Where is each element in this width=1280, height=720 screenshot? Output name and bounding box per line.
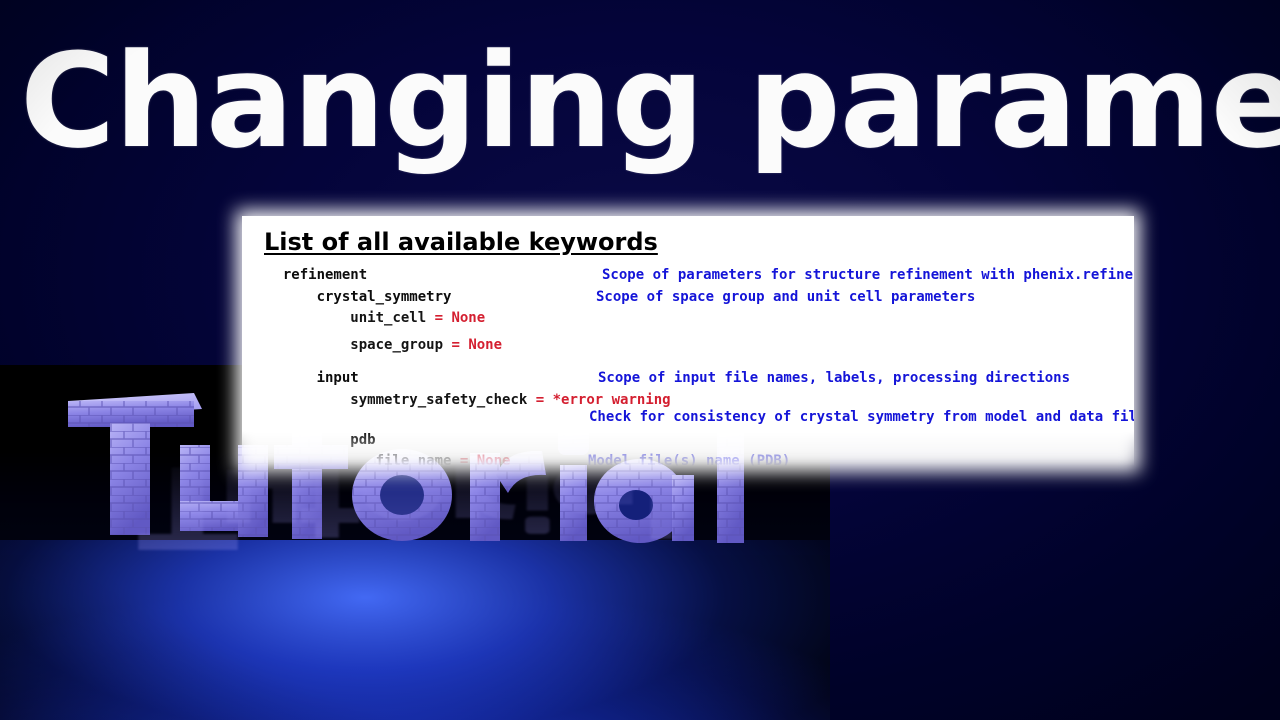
keyword-row: crystal_symmetryScope of space group and… bbox=[242, 286, 1134, 308]
keyword-description: Scope of parameters for structure refine… bbox=[602, 264, 1133, 286]
slide-root: Changing parameters bbox=[0, 0, 1280, 720]
keyword-name: input bbox=[317, 367, 359, 389]
keyword-label: pdb bbox=[350, 432, 375, 448]
keywords-panel: List of all available keywords refinemen… bbox=[236, 210, 1140, 472]
keyword-description: Model file(s) name (PDB) bbox=[588, 450, 790, 466]
keyword-name: crystal_symmetry bbox=[317, 286, 452, 308]
keyword-label: crystal_symmetry bbox=[317, 289, 452, 305]
keyword-row: refinementScope of parameters for struct… bbox=[242, 264, 1134, 286]
keyword-equals: = bbox=[451, 453, 476, 466]
keyword-name: refinement bbox=[283, 264, 367, 286]
keyword-description: Scope of input file names, labels, proce… bbox=[598, 367, 1070, 389]
keyword-value: None bbox=[451, 310, 485, 326]
keyword-label: unit_cell bbox=[350, 310, 426, 326]
keyword-label: refinement bbox=[283, 267, 367, 283]
keyword-equals: = bbox=[443, 337, 468, 353]
keyword-name: unit_cell = None bbox=[350, 307, 485, 329]
keyword-label: input bbox=[317, 370, 359, 386]
keyword-row: Check for consistency of crystal symmetr… bbox=[242, 406, 1134, 428]
keyword-row: pdb bbox=[242, 429, 1134, 451]
keyword-label: file_name bbox=[376, 453, 452, 466]
keyword-row: file_name = NoneModel file(s) name (PDB) bbox=[242, 450, 1134, 466]
keyword-name: pdb bbox=[350, 429, 375, 451]
keyword-equals: = bbox=[426, 310, 451, 326]
keyword-name: file_name = None bbox=[376, 450, 511, 466]
keyword-label: space_group bbox=[350, 337, 443, 353]
keyword-row: inputScope of input file names, labels, … bbox=[242, 367, 1134, 389]
panel-surface: List of all available keywords refinemen… bbox=[242, 216, 1134, 466]
keyword-row: unit_cell = None bbox=[242, 307, 1134, 329]
panel-heading: List of all available keywords bbox=[264, 228, 658, 256]
keyword-description: Check for consistency of crystal symmetr… bbox=[589, 406, 1134, 428]
keyword-name: space_group = None bbox=[350, 334, 502, 356]
keyword-value: None bbox=[477, 453, 511, 466]
page-title: Changing parameters bbox=[20, 26, 1270, 176]
keyword-row: space_group = None bbox=[242, 334, 1134, 356]
keyword-description: Scope of space group and unit cell param… bbox=[596, 286, 975, 308]
keyword-value: None bbox=[468, 337, 502, 353]
